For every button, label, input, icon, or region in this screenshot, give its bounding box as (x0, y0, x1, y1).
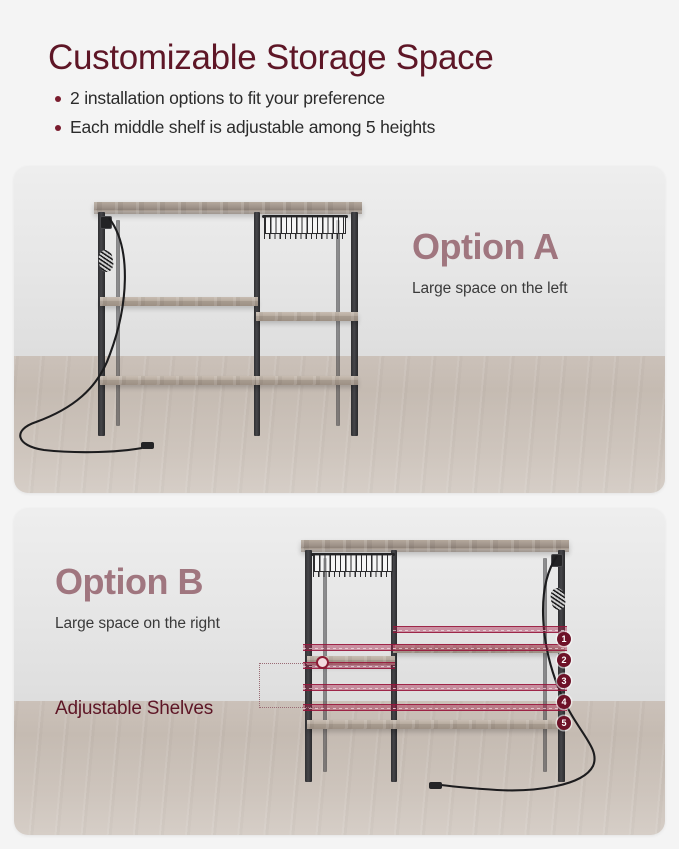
power-plug (429, 782, 442, 789)
frame-foot-center (254, 426, 260, 436)
header: Customizable Storage Space 2 installatio… (0, 0, 679, 138)
list-item: 2 installation options to fit your prefe… (55, 88, 679, 109)
option-b-subtitle: Large space on the right (55, 615, 220, 633)
power-plug (141, 442, 154, 449)
shelving-unit-a (98, 202, 358, 452)
frame-foot-left (305, 772, 312, 782)
option-a-title: Option A (412, 229, 567, 265)
basket-hooks (264, 233, 346, 239)
shelf-position-band-5-right (393, 704, 567, 711)
height-marker-3: 3 (557, 674, 571, 688)
frame-post-rear-right (336, 220, 340, 426)
wire-basket (313, 555, 393, 572)
power-cord (405, 552, 605, 802)
shelf-position-band-4-right (393, 684, 567, 691)
shelf-position-band-2 (303, 644, 395, 651)
callout-leader-line (259, 663, 321, 708)
basket-mesh (313, 555, 393, 572)
height-marker-1: 1 (557, 632, 571, 646)
bullet-text: 2 installation options to fit your prefe… (70, 88, 385, 109)
bullet-text: Each middle shelf is adjustable among 5 … (70, 117, 435, 138)
option-b-text-block: Option B Large space on the right (55, 564, 220, 633)
option-b-panel: Adjustable Shelves 1 2 3 4 5 Option B La… (14, 508, 665, 835)
shelving-unit-b (305, 540, 565, 798)
bottom-shelf-left (307, 720, 395, 729)
scene-a (14, 166, 665, 493)
list-item: Each middle shelf is adjustable among 5 … (55, 117, 679, 138)
bottom-shelf-right (256, 376, 358, 385)
height-marker-4: 4 (557, 695, 571, 709)
frame-foot-center (391, 772, 397, 782)
basket-hooks (313, 571, 393, 577)
option-a-panel: Option A Large space on the left (14, 166, 665, 493)
scene-b: Adjustable Shelves 1 2 3 4 5 (14, 508, 665, 835)
option-a-subtitle: Large space on the left (412, 280, 567, 298)
frame-foot-right (351, 426, 358, 436)
adjustable-shelves-callout: Adjustable Shelves (55, 698, 213, 720)
shelf-position-band-1 (393, 626, 567, 633)
shelf-position-band-2-right (393, 644, 567, 651)
page-title: Customizable Storage Space (48, 40, 679, 75)
height-marker-2: 2 (557, 653, 571, 667)
option-b-title: Option B (55, 564, 220, 600)
power-cord (14, 214, 190, 462)
wire-basket (264, 217, 346, 234)
height-marker-5: 5 (557, 716, 571, 730)
frame-post-center (254, 212, 260, 434)
option-a-text-block: Option A Large space on the left (412, 229, 567, 298)
bullet-dot-icon (55, 96, 61, 102)
basket-mesh (264, 217, 346, 234)
bullet-dot-icon (55, 125, 61, 131)
frame-post-right (351, 212, 358, 434)
callout-anchor-dot-icon (316, 656, 329, 669)
height-marker-list: 1 2 3 4 5 (557, 632, 571, 737)
middle-shelf-right (256, 312, 358, 321)
feature-bullet-list: 2 installation options to fit your prefe… (48, 88, 679, 138)
